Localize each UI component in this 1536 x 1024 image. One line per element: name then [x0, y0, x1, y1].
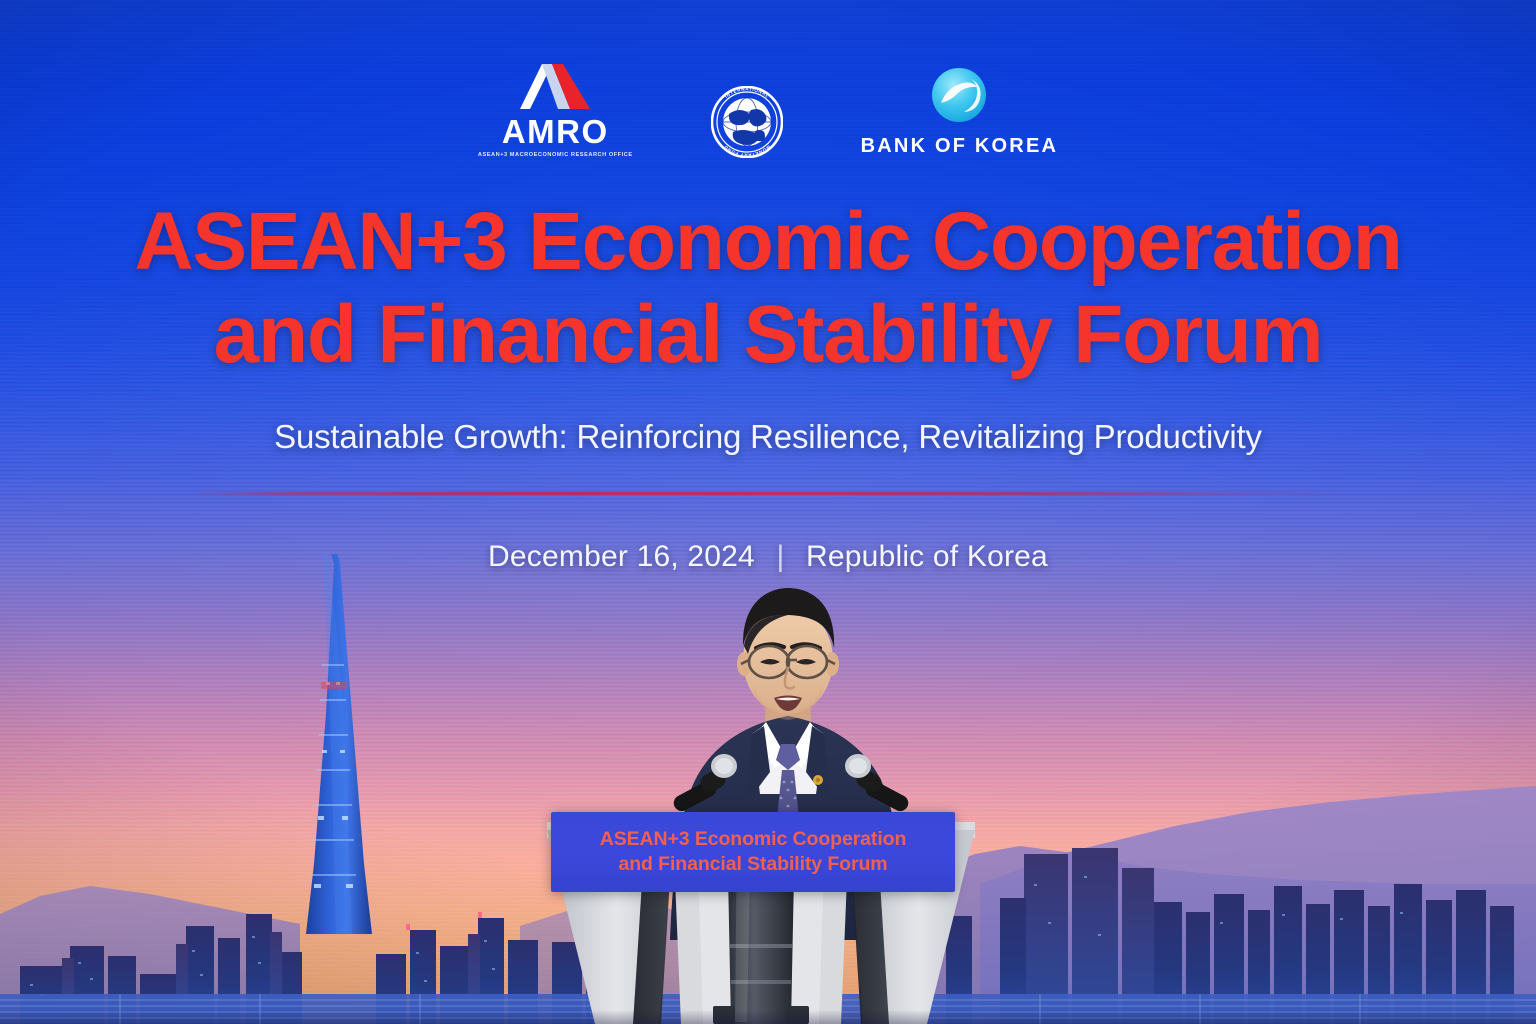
bank-of-korea-logo: BANK OF KOREA	[861, 67, 1059, 158]
red-divider-line	[190, 492, 1350, 495]
forum-date: December 16, 2024	[488, 540, 755, 573]
forum-title-line-1: ASEAN+3 Economic Cooperation	[134, 196, 1401, 287]
amro-wordmark: AMRO	[502, 115, 609, 148]
conference-stage-scene: AMRO ASEAN+3 MACROECONOMIC RESEARCH OFFI…	[0, 0, 1536, 1024]
imf-logo: INTERNATIONAL MONETARY FUND	[711, 86, 783, 158]
amro-chevron-icon	[518, 62, 592, 110]
forum-title: ASEAN+3 Economic Cooperation and Financi…	[0, 196, 1536, 381]
dateline-separator: |	[777, 540, 785, 573]
bank-of-korea-wordmark: BANK OF KOREA	[861, 135, 1059, 158]
sponsor-logo-row: AMRO ASEAN+3 MACROECONOMIC RESEARCH OFFI…	[0, 62, 1536, 158]
forum-location: Republic of Korea	[806, 540, 1048, 573]
amro-logo: AMRO ASEAN+3 MACROECONOMIC RESEARCH OFFI…	[478, 62, 633, 158]
forum-subtitle: Sustainable Growth: Reinforcing Resilien…	[0, 418, 1536, 456]
podium-sign: ASEAN+3 Economic Cooperation and Financi…	[551, 812, 955, 892]
amro-tagline: ASEAN+3 MACROECONOMIC RESEARCH OFFICE	[478, 152, 633, 158]
podium-sign-line-2: and Financial Stability Forum	[618, 852, 887, 877]
podium-sign-line-1: ASEAN+3 Economic Cooperation	[600, 827, 907, 852]
imf-globe-seal-icon: INTERNATIONAL MONETARY FUND	[711, 86, 783, 158]
bank-of-korea-orb-icon	[931, 67, 987, 123]
forum-dateline: December 16, 2024 | Republic of Korea	[0, 540, 1536, 574]
forum-title-line-2: and Financial Stability Forum	[0, 289, 1536, 382]
